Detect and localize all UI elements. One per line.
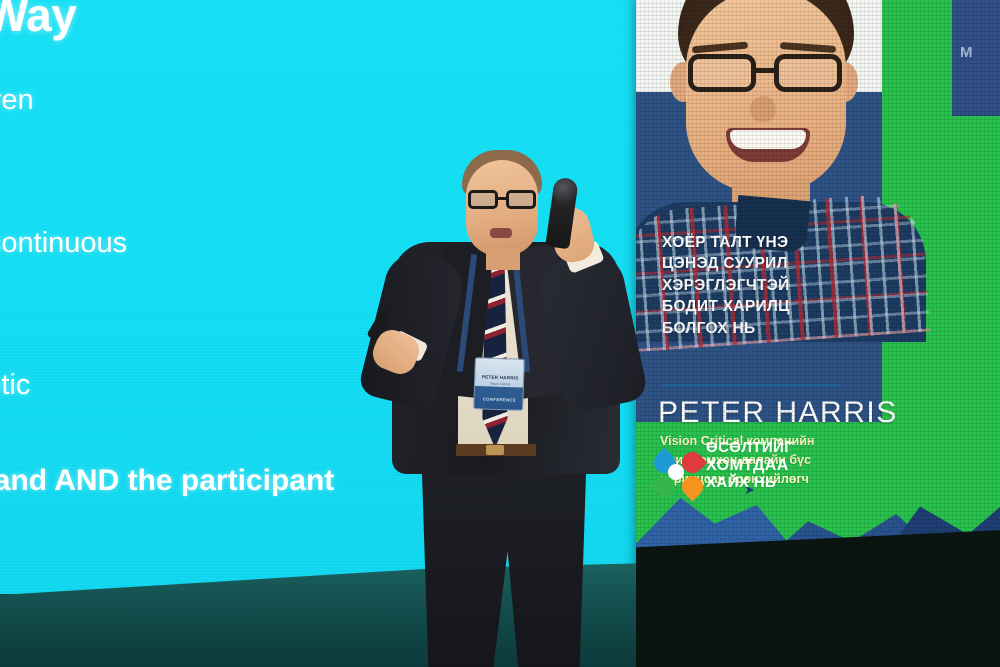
presenter-figure: PETER HARRIS Vision Critical CONFERENCE (352, 150, 682, 667)
slide-bullet-item: Relationship driven (0, 86, 34, 115)
speaker-portrait-photo (652, 0, 888, 250)
presenter-belt (456, 444, 536, 456)
banner-corner-tag-label: M (960, 44, 973, 61)
badge-role: Vision Critical (478, 381, 522, 387)
presenter-lens-right (506, 190, 536, 209)
presenter-conference-badge: PETER HARRIS Vision Critical CONFERENCE (473, 357, 525, 411)
speaker-banner: M ХОЁР ТАЛТ (636, 0, 1000, 616)
banner-headline: ХОЁР ТАЛТ ҮНЭ ЦЭНЭД СУУРИЛ ХЭРЭГЛЭГЧТЭЙ … (662, 232, 1000, 339)
slide-bullet-item: Personal/Authentic (0, 371, 30, 400)
banner-headline-line: ХЭРЭГЛЭГЧТЭЙ (662, 275, 1000, 296)
logo-line-3: ХАЙХ НЬ (706, 475, 793, 492)
portrait-glasses-bridge (756, 68, 778, 73)
stage-scene: The New Way Relationship driven Over tim… (0, 0, 1000, 667)
badge-name: PETER HARRIS (478, 374, 522, 381)
banner-headline-line: БОДИТ ХАРИЛЦ (662, 296, 1000, 317)
presenter-legs (414, 450, 594, 667)
presenter-eyeglasses-icon (466, 190, 540, 210)
logo-line-2: ХОМТДАА (706, 457, 793, 475)
portrait-eyeglasses-icon (684, 54, 850, 94)
presenter-glasses-bridge (498, 197, 508, 200)
banner-headline-line: ХОЁР ТАЛТ ҮНЭ (662, 232, 1000, 253)
banner-divider (662, 384, 842, 387)
banner-headline-line: ЦЭНЭД СУУРИЛ (662, 253, 1000, 274)
slide-title: The New Way (0, 0, 644, 42)
portrait-lens-right (774, 54, 842, 92)
presenter-lens-left (468, 190, 498, 209)
portrait-lens-left (688, 54, 756, 92)
presenter-neck (486, 248, 520, 270)
slide-bullet-item: Value to the brand AND the participant (0, 466, 334, 496)
presenter-head (456, 150, 548, 260)
banner-corner-tag: M (952, 0, 1000, 116)
badge-footer: CONFERENCE (477, 396, 521, 403)
presenter-mouth (490, 228, 512, 238)
slide-bullet-item: Interconnected/continuous (0, 229, 127, 258)
portrait-smiling-mouth (726, 128, 810, 162)
portrait-nose (750, 96, 776, 122)
banner-headline-line: БОЛГОХ НЬ (662, 318, 1000, 339)
belt-buckle (486, 445, 504, 455)
logo-line-1: ӨСӨЛТИЙГ (706, 440, 793, 457)
conference-logo: ӨСӨЛТИЙГ ХОМТДАА ХАЙХ НЬ (652, 430, 852, 516)
conference-logo-text: ӨСӨЛТИЙГ ХОМТДАА ХАЙХ НЬ (706, 440, 793, 492)
portrait-teeth (730, 130, 806, 149)
banner-speaker-name: PETER HARRIS (658, 396, 1000, 430)
microphone-grill (551, 177, 578, 206)
